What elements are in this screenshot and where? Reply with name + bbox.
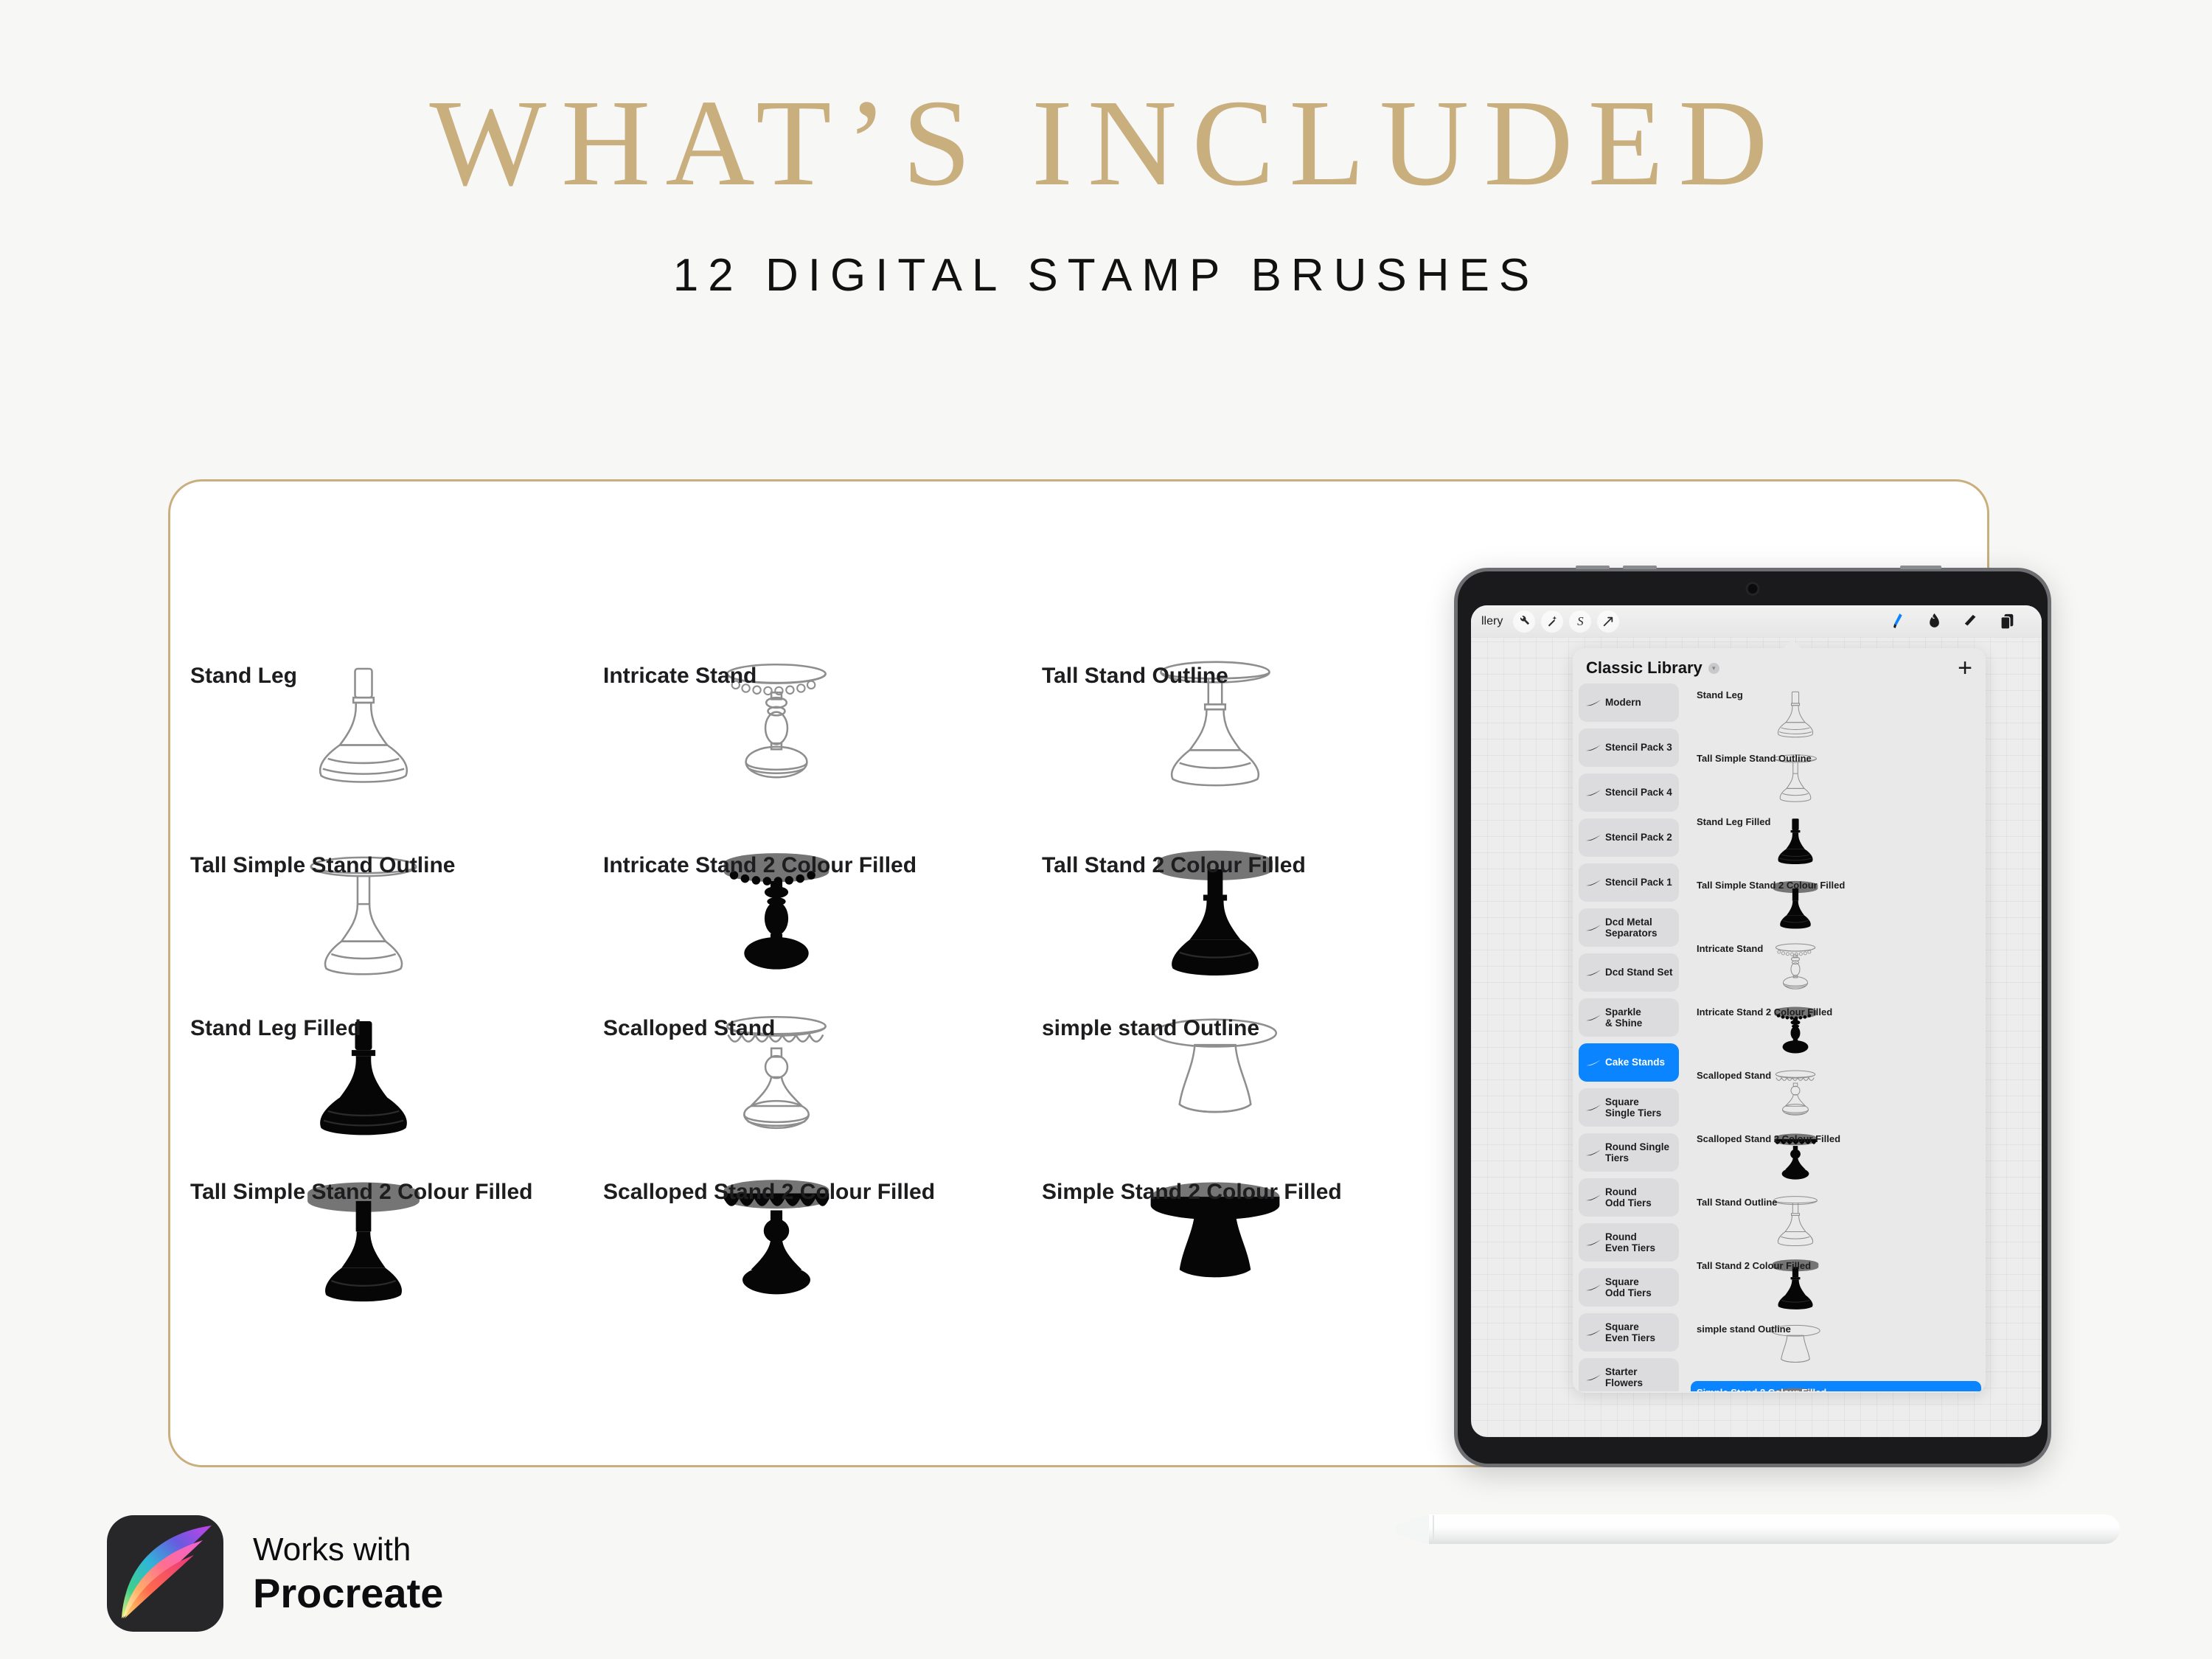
gallery-button[interactable]: llery xyxy=(1481,615,1503,628)
brush-list-item[interactable]: Simple Stand 2 Colour Filled xyxy=(1691,1381,1981,1391)
brush-preview-grid: Stand Leg Tall Simple Stand Outline Stan… xyxy=(190,664,1444,1401)
brush-list-item[interactable]: Intricate Stand 2 Colour Filled xyxy=(1691,1001,1981,1062)
badge-text: Works with Procreate xyxy=(253,1529,443,1617)
brush-preview-label: Scalloped Stand 2 Colour Filled xyxy=(603,1180,935,1205)
brush-preview-label: Tall Simple Stand 2 Colour Filled xyxy=(190,1180,533,1205)
brush-set-item[interactable]: Stencil Pack 1 xyxy=(1579,863,1679,902)
brush-set-label: Stencil Pack 2 xyxy=(1605,832,1672,843)
apple-pencil xyxy=(1386,1510,2138,1548)
brush-set-label: SquareSingle Tiers xyxy=(1605,1096,1661,1119)
brush-list-label: Tall Stand Outline xyxy=(1697,1197,1778,1208)
brush-list-label: Scalloped Stand xyxy=(1697,1070,1771,1081)
brush-preview-label: Tall Stand Outline xyxy=(1042,664,1228,689)
add-brush-set-button[interactable]: + xyxy=(1958,661,1972,675)
brush-list-item[interactable]: Tall Simple Stand 2 Colour Filled xyxy=(1691,874,1981,936)
procreate-label: Procreate xyxy=(253,1570,443,1617)
brush-panel-header: Classic Library ▾ + xyxy=(1573,648,1986,684)
brush-list-label: Intricate Stand xyxy=(1697,943,1763,954)
brush-set-item[interactable]: StarterFlowers xyxy=(1579,1358,1679,1391)
brush-list-item[interactable]: Stand Leg Filled xyxy=(1691,810,1981,872)
brush-preview-art xyxy=(279,652,448,804)
brush-preview-label: Intricate Stand 2 Colour Filled xyxy=(603,853,917,878)
ipad-device: llery S xyxy=(1454,568,2051,1467)
brush-set-label: Stencil Pack 3 xyxy=(1605,742,1672,753)
brush-set-item[interactable]: Dcd MetalSeparators xyxy=(1579,908,1679,947)
magic-wand-icon[interactable] xyxy=(1541,611,1563,633)
brush-preview-cell: Tall Simple Stand 2 Colour Filled xyxy=(190,1180,588,1364)
brush-set-label: SquareOdd Tiers xyxy=(1605,1276,1652,1298)
works-with-procreate-badge: Works with Procreate xyxy=(107,1515,443,1632)
brush-set-item[interactable]: SquareEven Tiers xyxy=(1579,1313,1679,1352)
ipad-screen: llery S xyxy=(1471,605,2042,1437)
brush-set-label: Stencil Pack 1 xyxy=(1605,877,1672,888)
wrench-icon[interactable] xyxy=(1513,611,1535,633)
brush-preview-label: Tall Stand 2 Colour Filled xyxy=(1042,853,1306,878)
brush-set-item[interactable]: Modern xyxy=(1579,684,1679,722)
brush-set-label: RoundEven Tiers xyxy=(1605,1231,1655,1253)
brush-set-item[interactable]: Stencil Pack 2 xyxy=(1579,818,1679,857)
brush-list-item[interactable]: Tall Stand Outline xyxy=(1691,1191,1981,1253)
brush-item-list[interactable]: Stand Leg Tall Simple Stand Outline Stan… xyxy=(1685,684,1986,1391)
smudge-icon[interactable] xyxy=(1921,611,1947,633)
brush-list-label: simple stand Outline xyxy=(1697,1324,1791,1335)
volume-down-button[interactable] xyxy=(1623,566,1657,569)
selection-s-icon[interactable]: S xyxy=(1569,611,1591,633)
brush-stroke-icon xyxy=(1585,1191,1602,1205)
brush-stroke-icon xyxy=(1585,921,1602,935)
brush-list-art xyxy=(1761,812,1829,877)
brush-list-label: Tall Simple Stand 2 Colour Filled xyxy=(1697,880,1845,891)
brush-set-item[interactable]: Sparkle& Shine xyxy=(1579,998,1679,1037)
brush-list-label: Tall Simple Stand Outline xyxy=(1697,753,1812,764)
brush-list-item[interactable]: simple stand Outline xyxy=(1691,1318,1981,1380)
procreate-logo-icon xyxy=(107,1515,223,1632)
brush-set-label: SquareEven Tiers xyxy=(1605,1321,1655,1343)
brush-list-item[interactable]: Stand Leg xyxy=(1691,684,1981,745)
brush-set-item[interactable]: Stencil Pack 3 xyxy=(1579,728,1679,767)
brush-preview-label: simple stand Outline xyxy=(1042,1016,1259,1041)
brush-set-item[interactable]: Dcd Stand Set xyxy=(1579,953,1679,992)
works-with-label: Works with xyxy=(253,1529,443,1570)
brush-stroke-icon xyxy=(1585,1056,1602,1070)
brush-list-label: Tall Stand 2 Colour Filled xyxy=(1697,1260,1811,1271)
brush-stroke-icon xyxy=(1585,876,1602,890)
brush-list-item[interactable]: Tall Simple Stand Outline xyxy=(1691,747,1981,809)
header: WHAT’S INCLUDED 12 DIGITAL STAMP BRUSHES xyxy=(0,0,2212,302)
brush-stroke-icon xyxy=(1585,786,1602,800)
transform-arrow-icon[interactable] xyxy=(1597,611,1619,633)
brush-preview-cell: Simple Stand 2 Colour Filled xyxy=(1042,1180,1440,1364)
brush-library-panel: Classic Library ▾ + ModernStencil Pack 3… xyxy=(1573,648,1986,1393)
brush-stroke-icon xyxy=(1585,966,1602,980)
brush-set-item[interactable]: SquareOdd Tiers xyxy=(1579,1268,1679,1307)
brush-set-label: Round SingleTiers xyxy=(1605,1141,1669,1164)
brush-panel-body: ModernStencil Pack 3Stencil Pack 4Stenci… xyxy=(1573,684,1986,1391)
toolbar-right-group xyxy=(1884,611,2031,633)
page-subtitle: 12 DIGITAL STAMP BRUSHES xyxy=(0,205,2212,302)
brush-stroke-icon xyxy=(1585,1326,1602,1340)
brush-preview-label: Simple Stand 2 Colour Filled xyxy=(1042,1180,1342,1205)
brush-stroke-icon xyxy=(1585,1371,1602,1385)
brush-library-title: Classic Library xyxy=(1586,658,1703,678)
brush-set-label: Stencil Pack 4 xyxy=(1605,787,1672,798)
brush-list-item[interactable]: Tall Stand 2 Colour Filled xyxy=(1691,1254,1981,1316)
brush-stroke-icon xyxy=(1585,1281,1602,1295)
brush-stroke-icon xyxy=(1585,1146,1602,1160)
brush-preview-label: Scalloped Stand xyxy=(603,1016,775,1041)
brush-preview-cell: Tall Stand Outline xyxy=(1042,664,1440,848)
brush-stroke-icon xyxy=(1585,696,1602,710)
brush-set-item[interactable]: Cake Stands xyxy=(1579,1043,1679,1082)
brush-list-art xyxy=(1761,1065,1829,1130)
brush-set-label: Dcd Stand Set xyxy=(1605,967,1673,978)
brush-set-label: RoundOdd Tiers xyxy=(1605,1186,1652,1208)
brush-list-item[interactable]: Scalloped Stand xyxy=(1691,1064,1981,1126)
brush-set-item[interactable]: SquareSingle Tiers xyxy=(1579,1088,1679,1127)
brush-stroke-icon xyxy=(1585,1101,1602,1115)
panel-caret xyxy=(1782,639,1803,650)
brush-list-label: Stand Leg Filled xyxy=(1697,816,1770,827)
page-title: WHAT’S INCLUDED xyxy=(0,0,2212,205)
brush-list-art xyxy=(1761,939,1829,1004)
procreate-toolbar: llery S xyxy=(1471,605,2042,638)
brush-set-label: StarterFlowers xyxy=(1605,1366,1643,1388)
brush-set-item[interactable]: RoundEven Tiers xyxy=(1579,1223,1679,1262)
brush-list-art xyxy=(1761,685,1829,750)
brush-preview-label: Stand Leg Filled xyxy=(190,1016,361,1041)
brush-preview-cell: Stand Leg xyxy=(190,664,588,848)
brush-stroke-icon xyxy=(1585,1236,1602,1250)
brush-set-label: Sparkle& Shine xyxy=(1605,1006,1642,1029)
brush-list-label: Scalloped Stand 2 Colour Filled xyxy=(1697,1133,1840,1144)
power-button[interactable] xyxy=(1900,566,1941,569)
brush-list-label: Simple Stand 2 Colour Filled xyxy=(1697,1387,1826,1391)
brush-stroke-icon xyxy=(1585,831,1602,845)
brush-preview-cell: Intricate Stand xyxy=(603,664,1001,848)
brush-set-label: Cake Stands xyxy=(1605,1057,1665,1068)
brush-stroke-icon xyxy=(1585,741,1602,755)
brush-set-label: Modern xyxy=(1605,697,1641,708)
brush-set-item[interactable]: Round SingleTiers xyxy=(1579,1133,1679,1172)
paintbrush-icon[interactable] xyxy=(1884,611,1910,633)
brush-preview-cell: Scalloped Stand 2 Colour Filled xyxy=(603,1180,1001,1364)
brush-set-list[interactable]: ModernStencil Pack 3Stencil Pack 4Stenci… xyxy=(1573,684,1685,1391)
brush-preview-label: Tall Simple Stand Outline xyxy=(190,853,456,878)
brush-stroke-icon xyxy=(1585,1011,1602,1025)
volume-up-button[interactable] xyxy=(1576,566,1610,569)
brush-list-label: Intricate Stand 2 Colour Filled xyxy=(1697,1006,1832,1018)
brush-set-item[interactable]: Stencil Pack 4 xyxy=(1579,773,1679,812)
brush-list-item[interactable]: Scalloped Stand 2 Colour Filled xyxy=(1691,1127,1981,1189)
brush-preview-label: Intricate Stand xyxy=(603,664,757,689)
brush-list-item[interactable]: Intricate Stand xyxy=(1691,937,1981,999)
brush-preview-label: Stand Leg xyxy=(190,664,297,689)
brush-list-label: Stand Leg xyxy=(1697,689,1743,700)
front-camera-icon xyxy=(1748,584,1758,594)
brush-set-label: Dcd MetalSeparators xyxy=(1605,917,1658,939)
brush-set-item[interactable]: RoundOdd Tiers xyxy=(1579,1178,1679,1217)
eraser-icon[interactable] xyxy=(1958,611,1984,633)
layers-icon[interactable] xyxy=(1994,611,2021,633)
chevron-down-icon[interactable]: ▾ xyxy=(1708,663,1719,674)
